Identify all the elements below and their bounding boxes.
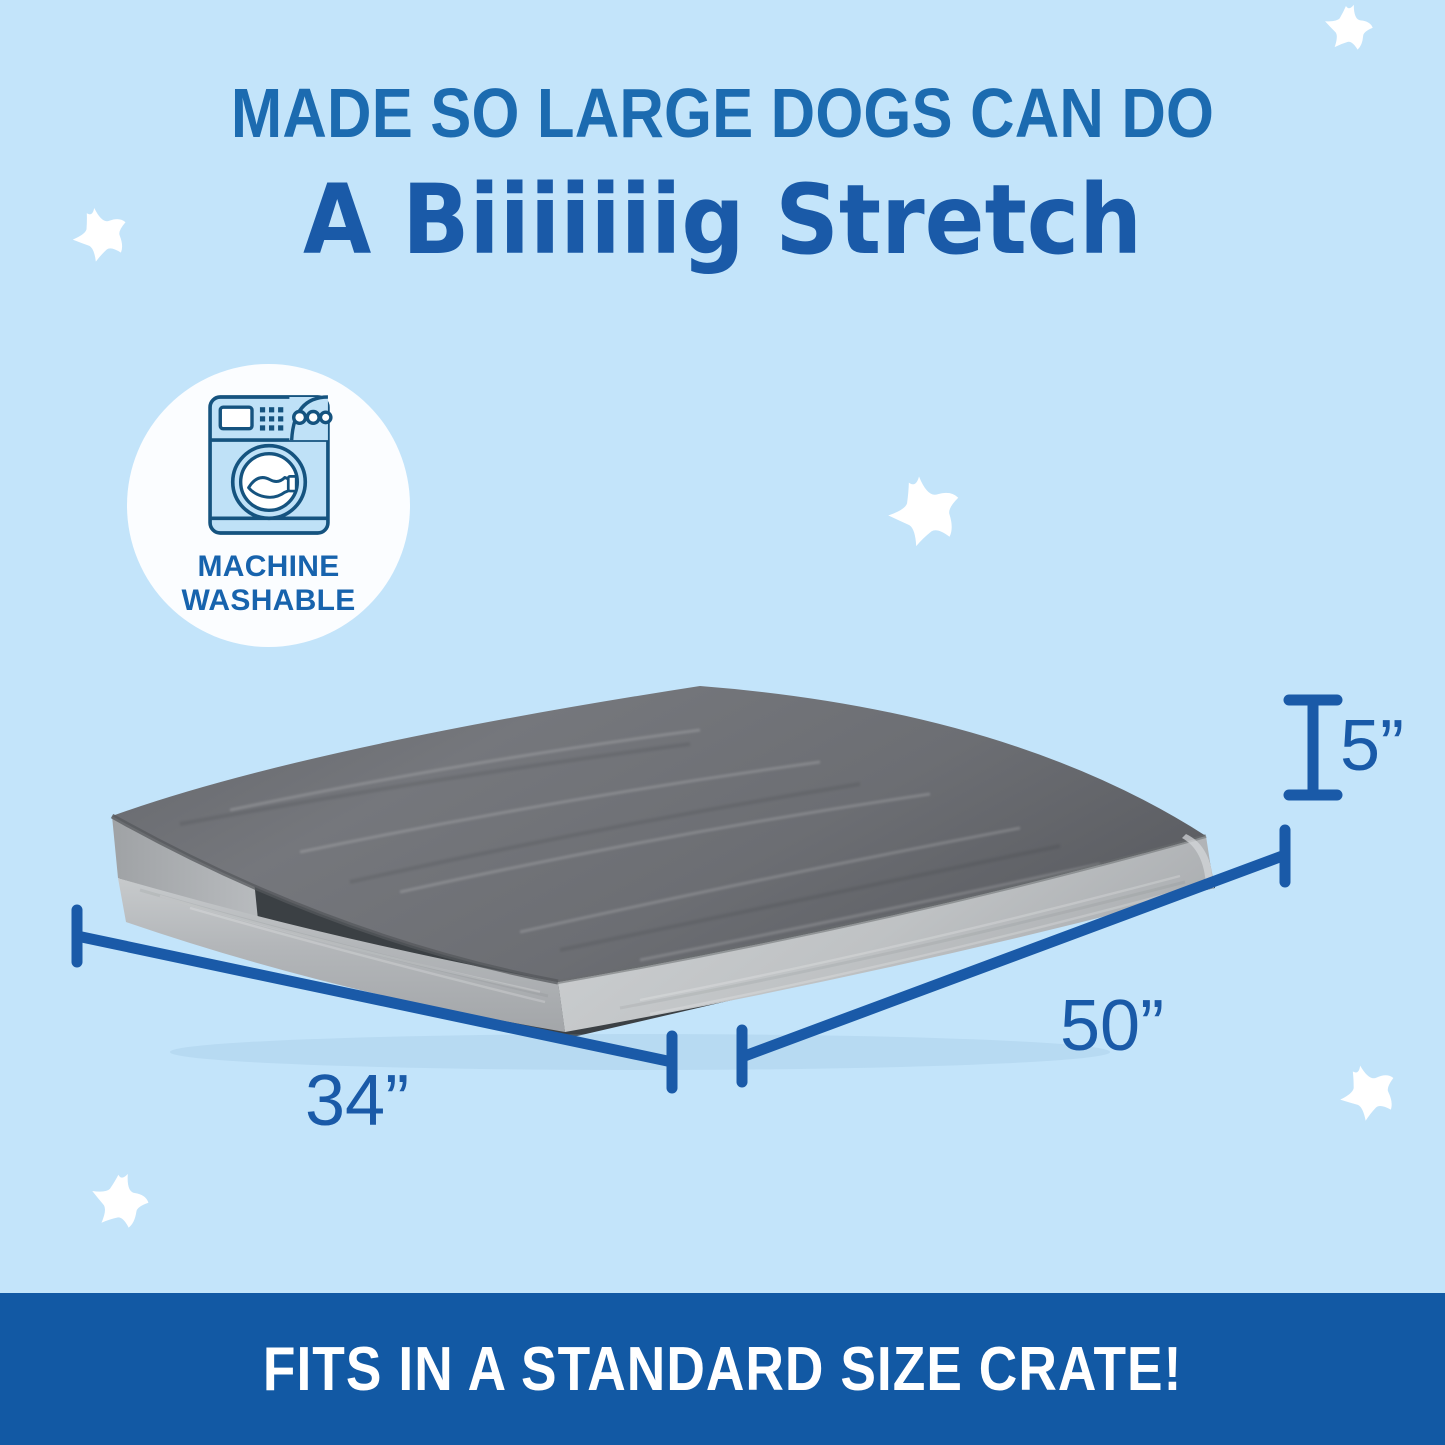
width-dimension-line xyxy=(77,936,672,1062)
bottom-banner: FITS IN A STANDARD SIZE CRATE! xyxy=(0,1293,1445,1445)
product-infographic: MADE SO LARGE DOGS CAN DO A Biiiiiiig St… xyxy=(0,0,1445,1445)
length-dimension-label: 50” xyxy=(1060,985,1164,1067)
dimension-lines: 5” 50” 34” xyxy=(0,0,1445,1445)
banner-text: FITS IN A STANDARD SIZE CRATE! xyxy=(263,1334,1183,1405)
height-dimension-label: 5” xyxy=(1340,705,1404,787)
width-dimension-label: 34” xyxy=(305,1060,409,1142)
length-dimension-line xyxy=(742,855,1285,1057)
